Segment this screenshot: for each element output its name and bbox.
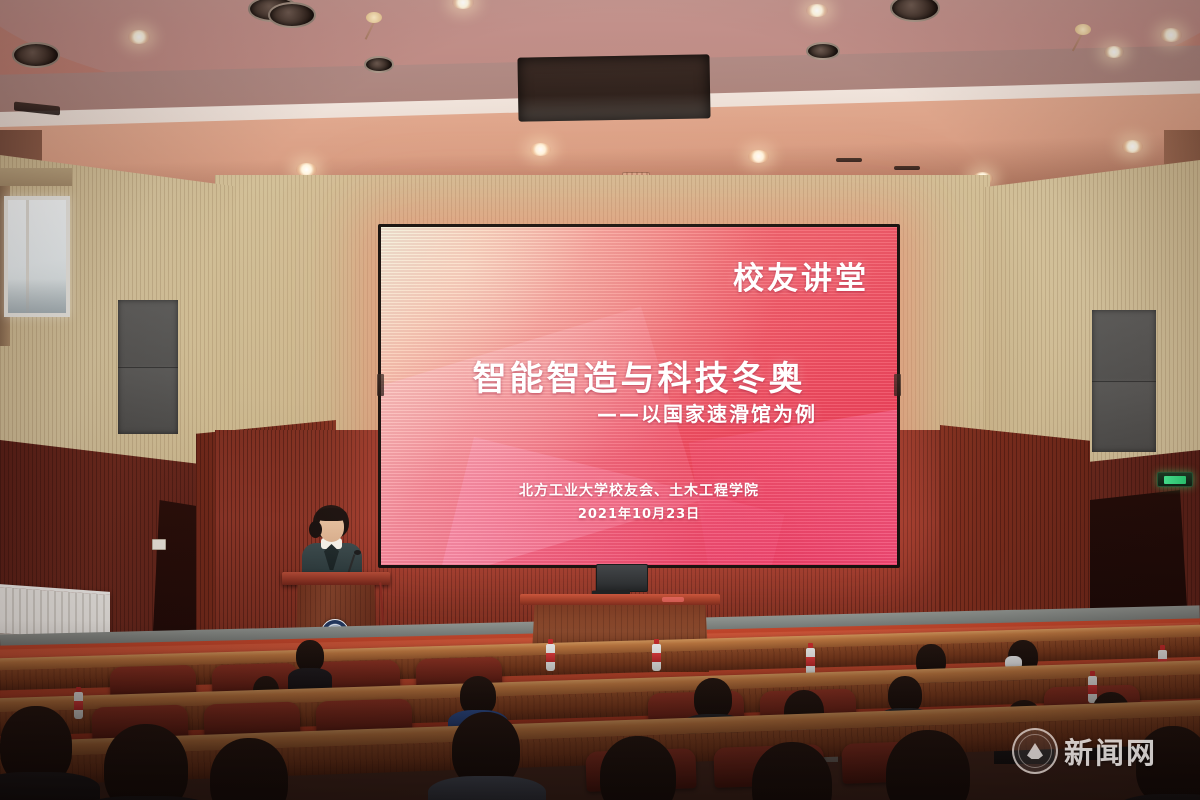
seal-mark: [1027, 743, 1043, 759]
presenter-fringe: [316, 508, 347, 521]
ceiling-downlight: [806, 4, 828, 17]
person-shoulders: [0, 772, 100, 800]
bottle-label: [652, 653, 661, 662]
window-view: [8, 279, 66, 313]
person-shoulders: [1114, 794, 1200, 800]
control-monitor[interactable]: [596, 564, 648, 592]
auditorium-photo: 校友讲堂 智能智造与科技冬奥 ——以国家速滑馆为例 北方工业大学校友会、土木工程…: [0, 0, 1200, 800]
bottle-label: [74, 701, 83, 710]
right-wall-acoustic-insert: [1092, 310, 1156, 452]
exit-sign: [1157, 472, 1193, 487]
bottle-label: [1088, 685, 1097, 694]
ceiling-speaker-can: [268, 2, 316, 28]
news-site-seal-icon: [1012, 728, 1058, 774]
ceiling-speaker-can: [12, 42, 60, 68]
slide-surface: 校友讲堂 智能智造与科技冬奥 ——以国家速滑馆为例 北方工业大学校友会、土木工程…: [381, 227, 897, 565]
light-switch-left[interactable]: [152, 539, 166, 550]
desk-document: [662, 597, 684, 602]
water-bottle: [74, 692, 83, 719]
slide-date: 2021年10月23日: [381, 503, 897, 522]
water-bottle: [652, 644, 661, 671]
ceiling-downlight: [1104, 46, 1124, 58]
person-head: [104, 724, 188, 800]
presenter-hair-bun: [309, 521, 322, 538]
bottle-label: [806, 657, 815, 666]
exit-running-man-icon: [1164, 476, 1186, 484]
watermark-text: 新闻网: [1064, 730, 1157, 772]
slide-text-layer: 校友讲堂 智能智造与科技冬奥 ——以国家速滑馆为例 北方工业大学校友会、土木工程…: [381, 227, 897, 565]
ceiling-downlight: [1160, 28, 1182, 42]
window-head-trim: [0, 168, 72, 186]
slide-organizer: 北方工业大学校友会、土木工程学院: [381, 480, 897, 500]
track-light-head: [366, 12, 382, 23]
ceiling-downlight: [128, 30, 150, 44]
projection-booth-window: [517, 54, 710, 121]
left-wall-acoustic-insert: [118, 300, 178, 434]
water-bottle: [806, 648, 815, 675]
ceiling-slot-vent: [836, 158, 862, 162]
slide-kicker: 校友讲堂: [733, 253, 869, 298]
watermark: 新闻网: [1012, 728, 1157, 774]
water-bottle: [546, 644, 555, 671]
av-desk-top: [520, 594, 720, 605]
side-window: [4, 196, 70, 317]
person-shoulders: [428, 776, 546, 800]
microphone-icon: [354, 550, 361, 555]
led-presentation-screen[interactable]: 校友讲堂 智能智造与科技冬奥 ——以国家速滑馆为例 北方工业大学校友会、土木工程…: [378, 224, 900, 568]
podium-lectern-top: [282, 572, 390, 585]
ceiling-downlight: [1122, 140, 1143, 153]
ceiling-downlight: [748, 150, 769, 163]
ceiling-downlight: [530, 143, 551, 156]
bottle-label: [546, 653, 555, 662]
ceiling-slot-vent: [894, 166, 920, 170]
slide-subtitle: ——以国家速滑馆为例: [597, 398, 817, 427]
slide-title: 智能智造与科技冬奥: [381, 351, 897, 400]
track-light-head: [1075, 24, 1091, 35]
ceiling-speaker-can: [806, 42, 840, 60]
ceiling-speaker-can: [364, 56, 394, 73]
